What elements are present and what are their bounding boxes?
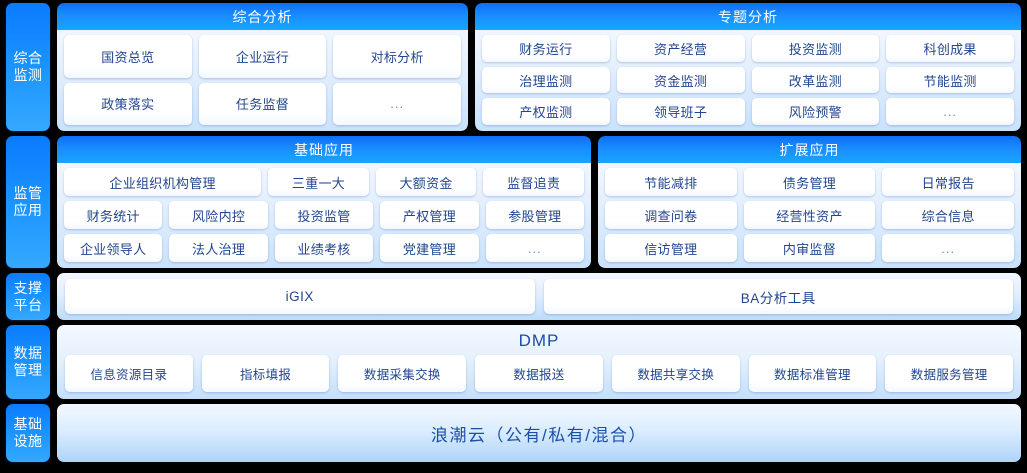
layer-row-comprehensive-monitoring: 综合 监测 综合分析 国资总览 企业运行 对标分析 政策落实 任务监督 .. <box>6 3 1021 131</box>
layer-row-infrastructure: 基础 设施 浪潮云（公有/私有/混合） <box>6 404 1021 462</box>
tile-row: 财务统计 风险内控 投资监管 产权管理 参股管理 <box>64 201 584 229</box>
tile-more[interactable]: ... <box>486 234 584 262</box>
panel-extended-applications: 扩展应用 节能减排 债务管理 日常报告 调查问卷 经营性资产 综合信息 信访管理 <box>598 136 1021 268</box>
stage-label-line1: 综合 <box>14 50 43 67</box>
tile-zhengce-luoshi[interactable]: 政策落实 <box>64 83 192 126</box>
panel-thematic-analysis: 专题分析 财务运行 资产经营 投资监测 科创成果 治理监测 资金监测 改革监测 … <box>475 3 1021 131</box>
tile-kechuang-chengguo[interactable]: 科创成果 <box>886 35 1014 62</box>
panel-support-platform: iGIX BA分析工具 <box>57 273 1021 320</box>
tile-row: 财务运行 资产经营 投资监测 科创成果 <box>482 35 1014 62</box>
panel-body-extended-applications: 节能减排 债务管理 日常报告 调查问卷 经营性资产 综合信息 信访管理 内审监督… <box>598 163 1021 268</box>
tile-caiwu-yunxing[interactable]: 财务运行 <box>482 35 610 62</box>
tile-row: 调查问卷 经营性资产 综合信息 <box>605 201 1014 229</box>
tile-shuju-gongxiang-jiaohuan[interactable]: 数据共享交换 <box>612 355 740 392</box>
tile-shuju-fuwu-guanli[interactable]: 数据服务管理 <box>885 355 1013 392</box>
tile-igix[interactable]: iGIX <box>65 279 535 314</box>
tile-faren-zhili[interactable]: 法人治理 <box>169 234 267 262</box>
tile-more[interactable]: ... <box>333 83 461 126</box>
tile-zonghe-xinxi[interactable]: 综合信息 <box>882 201 1014 229</box>
layer-row-support-platform: 支撑 平台 iGIX BA分析工具 <box>6 273 1021 320</box>
stage-label-regulatory-applications: 监管 应用 <box>6 136 50 268</box>
stage-label-line2: 平台 <box>14 297 43 314</box>
tile-yeji-kaohe[interactable]: 业绩考核 <box>275 234 373 262</box>
architecture-diagram: 综合 监测 综合分析 国资总览 企业运行 对标分析 政策落实 任务监督 .. <box>0 0 1027 473</box>
tile-zhili-jiance[interactable]: 治理监测 <box>482 67 610 94</box>
tile-row: 国资总览 企业运行 对标分析 <box>64 35 461 78</box>
panel-title-extended-applications: 扩展应用 <box>598 136 1021 163</box>
tile-renwu-jiandu[interactable]: 任务监督 <box>199 83 327 126</box>
tile-touzi-jiance[interactable]: 投资监测 <box>752 35 880 62</box>
tile-xinfang-guanli[interactable]: 信访管理 <box>605 234 737 262</box>
tile-shuju-baosong[interactable]: 数据报送 <box>475 355 603 392</box>
stage-label-line2: 监测 <box>14 67 43 84</box>
stage-label-support-platform: 支撑 平台 <box>6 273 50 320</box>
tile-zijin-jiance[interactable]: 资金监测 <box>617 67 745 94</box>
tile-ba-analysis-tool[interactable]: BA分析工具 <box>544 279 1014 314</box>
tile-caiwu-tongji[interactable]: 财务统计 <box>64 201 162 229</box>
tile-jiandu-zhuize[interactable]: 监督追责 <box>483 168 584 196</box>
panel-dmp: DMP 信息资源目录 指标填报 数据采集交换 数据报送 数据共享交换 数据标准管… <box>57 325 1021 399</box>
tile-qiye-zuzhi-jigou-guanli[interactable]: 企业组织机构管理 <box>64 168 261 196</box>
tile-row: 治理监测 资金监测 改革监测 节能监测 <box>482 67 1014 94</box>
tile-neishen-jiandu[interactable]: 内审监督 <box>744 234 876 262</box>
tile-gaige-jiance[interactable]: 改革监测 <box>752 67 880 94</box>
tile-row: 企业领导人 法人治理 业绩考核 党建管理 ... <box>64 234 584 262</box>
tile-richang-baogao[interactable]: 日常报告 <box>882 168 1014 196</box>
panel-body-comprehensive-analysis: 国资总览 企业运行 对标分析 政策落实 任务监督 ... <box>57 30 468 131</box>
tile-fengxian-yujing[interactable]: 风险预警 <box>752 98 880 125</box>
tile-xinxi-ziyuan-mulu[interactable]: 信息资源目录 <box>65 355 193 392</box>
stage-label-line2: 应用 <box>14 202 43 219</box>
panel-body-basic-applications: 企业组织机构管理 三重一大 大额资金 监督追责 财务统计 风险内控 投资监管 产… <box>57 163 591 268</box>
panel-title-basic-applications: 基础应用 <box>57 136 591 163</box>
tile-zhaiwu-guanli[interactable]: 债务管理 <box>744 168 876 196</box>
tile-diaocha-wenjuan[interactable]: 调查问卷 <box>605 201 737 229</box>
tile-more[interactable]: ... <box>886 98 1014 125</box>
panel-infrastructure: 浪潮云（公有/私有/混合） <box>57 404 1021 462</box>
panel-title-dmp: DMP <box>65 329 1013 355</box>
tile-dae-zijin[interactable]: 大额资金 <box>376 168 477 196</box>
tile-chanquan-jiance[interactable]: 产权监测 <box>482 98 610 125</box>
stage-label-data-management: 数据 管理 <box>6 325 50 399</box>
tile-chanquan-guanli[interactable]: 产权管理 <box>380 201 478 229</box>
tile-row: 企业组织机构管理 三重一大 大额资金 监督追责 <box>64 168 584 196</box>
panel-title-thematic-analysis: 专题分析 <box>475 3 1021 30</box>
tile-jingyingxing-zichan[interactable]: 经营性资产 <box>744 201 876 229</box>
stage-label-infrastructure: 基础 设施 <box>6 404 50 462</box>
tile-more[interactable]: ... <box>882 234 1014 262</box>
tile-row: 信息资源目录 指标填报 数据采集交换 数据报送 数据共享交换 数据标准管理 数据… <box>65 355 1013 392</box>
tile-row: 节能减排 债务管理 日常报告 <box>605 168 1014 196</box>
tile-fengxian-neikong[interactable]: 风险内控 <box>169 201 267 229</box>
layer-row-regulatory-applications: 监管 应用 基础应用 企业组织机构管理 三重一大 大额资金 监督追责 财务统计 <box>6 136 1021 268</box>
tile-touzi-jianguan[interactable]: 投资监管 <box>275 201 373 229</box>
tile-dangjian-guanli[interactable]: 党建管理 <box>380 234 478 262</box>
panel-comprehensive-analysis: 综合分析 国资总览 企业运行 对标分析 政策落实 任务监督 ... <box>57 3 468 131</box>
tile-guozi-zonglan[interactable]: 国资总览 <box>64 35 192 78</box>
tile-jieneng-jiance[interactable]: 节能监测 <box>886 67 1014 94</box>
stage-label-line1: 支撑 <box>14 280 43 297</box>
tile-row: 政策落实 任务监督 ... <box>64 83 461 126</box>
stage-label-line2: 设施 <box>14 433 43 450</box>
panel-basic-applications: 基础应用 企业组织机构管理 三重一大 大额资金 监督追责 财务统计 风险内控 投… <box>57 136 591 268</box>
stage-label-line1: 数据 <box>14 345 43 362</box>
tile-shuju-biaozhun-guanli[interactable]: 数据标准管理 <box>749 355 877 392</box>
panels-regulatory-applications: 基础应用 企业组织机构管理 三重一大 大额资金 监督追责 财务统计 风险内控 投… <box>57 136 1021 268</box>
infrastructure-title: 浪潮云（公有/私有/混合） <box>431 421 647 446</box>
layer-row-data-management: 数据 管理 DMP 信息资源目录 指标填报 数据采集交换 数据报送 数据共享交换… <box>6 325 1021 399</box>
tile-cangu-guanli[interactable]: 参股管理 <box>486 201 584 229</box>
stage-label-line1: 基础 <box>14 416 43 433</box>
panel-body-thematic-analysis: 财务运行 资产经营 投资监测 科创成果 治理监测 资金监测 改革监测 节能监测 … <box>475 30 1021 131</box>
tile-jieneng-jianpai[interactable]: 节能减排 <box>605 168 737 196</box>
stage-label-line2: 管理 <box>14 362 43 379</box>
panel-title-comprehensive-analysis: 综合分析 <box>57 3 468 30</box>
tile-duibiao-fenxi[interactable]: 对标分析 <box>333 35 461 78</box>
tile-sanzhong-yida[interactable]: 三重一大 <box>268 168 369 196</box>
tile-lingdao-banzi[interactable]: 领导班子 <box>617 98 745 125</box>
tile-zhibiao-tianbao[interactable]: 指标填报 <box>202 355 330 392</box>
tile-qiye-lingdaoren[interactable]: 企业领导人 <box>64 234 162 262</box>
tile-row: 产权监测 领导班子 风险预警 ... <box>482 98 1014 125</box>
stage-label-line1: 监管 <box>14 185 43 202</box>
stage-label-comprehensive-monitoring: 综合 监测 <box>6 3 50 131</box>
tile-qiye-yunxing[interactable]: 企业运行 <box>199 35 327 78</box>
panels-comprehensive-monitoring: 综合分析 国资总览 企业运行 对标分析 政策落实 任务监督 ... 专题 <box>57 3 1021 131</box>
tile-shuju-caiji-jiaohuan[interactable]: 数据采集交换 <box>338 355 466 392</box>
tile-row: 信访管理 内审监督 ... <box>605 234 1014 262</box>
tile-zichan-jingying[interactable]: 资产经营 <box>617 35 745 62</box>
